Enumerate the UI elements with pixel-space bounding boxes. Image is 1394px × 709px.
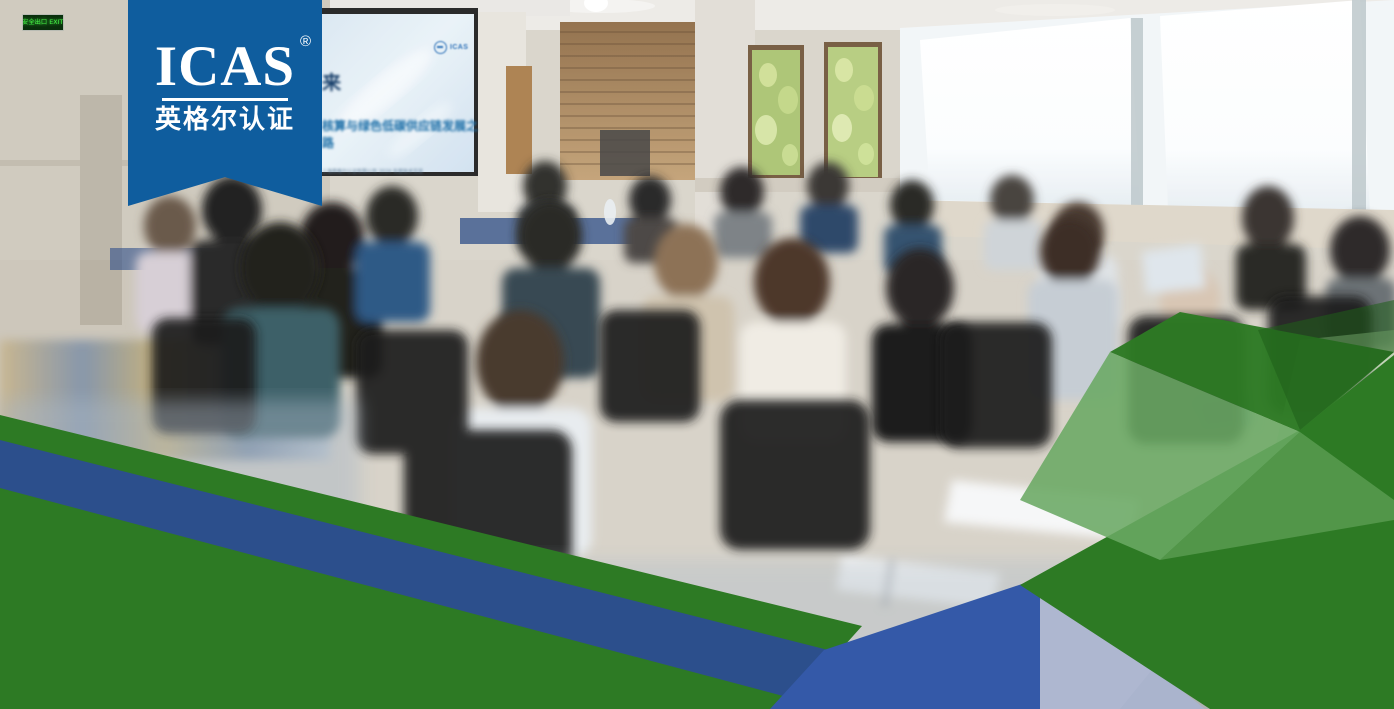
icas-logo: ICAS ® 英格尔认证: [155, 38, 295, 132]
icas-wordmark: ICAS ®: [155, 38, 295, 95]
icas-chinese-name: 英格尔认证: [155, 106, 295, 132]
icas-wordmark-text: ICAS: [155, 35, 295, 98]
registered-trademark-icon: ®: [300, 34, 312, 49]
logo-divider: [162, 98, 288, 101]
banner-canvas: 安全出口 EXIT 来 核算与绿色低碳供应链发展之路 上海英格尔认证有限公司 2…: [0, 0, 1394, 709]
icas-logo-panel: ICAS ® 英格尔认证: [128, 0, 322, 206]
